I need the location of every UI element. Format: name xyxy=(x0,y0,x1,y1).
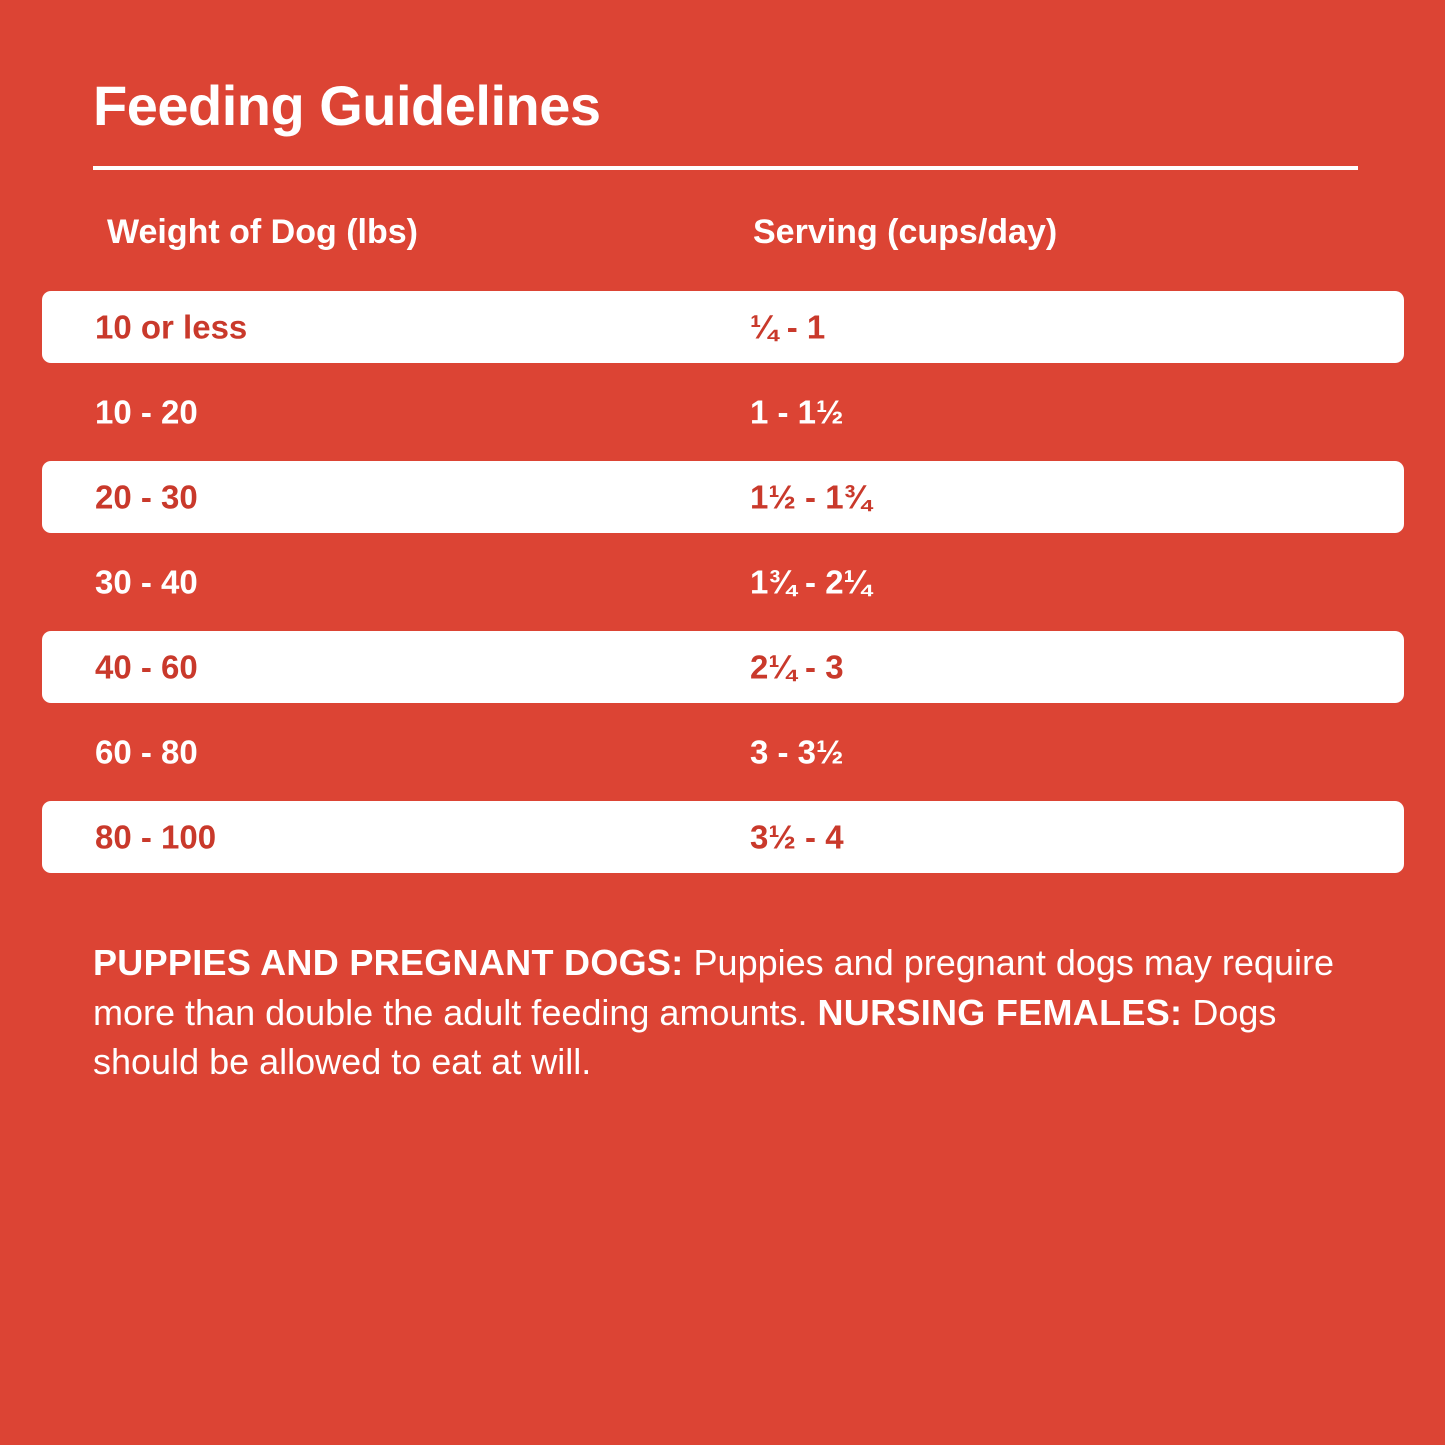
cell-serving: 3½ - 4 xyxy=(750,821,844,854)
cell-weight: 30 - 40 xyxy=(95,566,198,599)
table-row: 10 - 20 1 - 1½ xyxy=(42,376,1404,448)
cell-serving: 1½ - 1¾ xyxy=(750,481,871,514)
title-block: Feeding Guidelines xyxy=(93,78,1358,134)
cell-weight: 10 or less xyxy=(95,311,247,344)
cell-weight: 80 - 100 xyxy=(95,821,216,854)
puppies-label: PUPPIES AND PREGNANT DOGS: xyxy=(93,942,684,983)
cell-weight: 60 - 80 xyxy=(95,736,198,769)
column-header-weight: Weight of Dog (lbs) xyxy=(107,213,418,252)
feeding-guidelines-panel: Feeding Guidelines Weight of Dog (lbs) S… xyxy=(0,0,1445,1445)
title-divider xyxy=(93,166,1358,170)
cell-serving: 1¾ - 2¼ xyxy=(750,566,871,599)
cell-serving: ¼ - 1 xyxy=(750,311,825,344)
table-row: 10 or less ¼ - 1 xyxy=(42,291,1404,363)
table-row: 40 - 60 2¼ - 3 xyxy=(42,631,1404,703)
table-row: 80 - 100 3½ - 4 xyxy=(42,801,1404,873)
cell-weight: 10 - 20 xyxy=(95,396,198,429)
cell-weight: 20 - 30 xyxy=(95,481,198,514)
feeding-notes: PUPPIES AND PREGNANT DOGS: Puppies and p… xyxy=(93,938,1365,1087)
cell-weight: 40 - 60 xyxy=(95,651,198,684)
nursing-label: NURSING FEMALES: xyxy=(818,992,1183,1033)
table-row: 30 - 40 1¾ - 2¼ xyxy=(42,546,1404,618)
cell-serving: 1 - 1½ xyxy=(750,396,844,429)
column-header-serving: Serving (cups/day) xyxy=(753,213,1057,252)
page-title: Feeding Guidelines xyxy=(93,78,1358,134)
feeding-table-body: 10 or less ¼ - 1 10 - 20 1 - 1½ 20 - 30 … xyxy=(0,291,1445,886)
table-column-headers: Weight of Dog (lbs) Serving (cups/day) xyxy=(0,213,1445,269)
cell-serving: 2¼ - 3 xyxy=(750,651,844,684)
cell-serving: 3 - 3½ xyxy=(750,736,844,769)
table-row: 60 - 80 3 - 3½ xyxy=(42,716,1404,788)
table-row: 20 - 30 1½ - 1¾ xyxy=(42,461,1404,533)
